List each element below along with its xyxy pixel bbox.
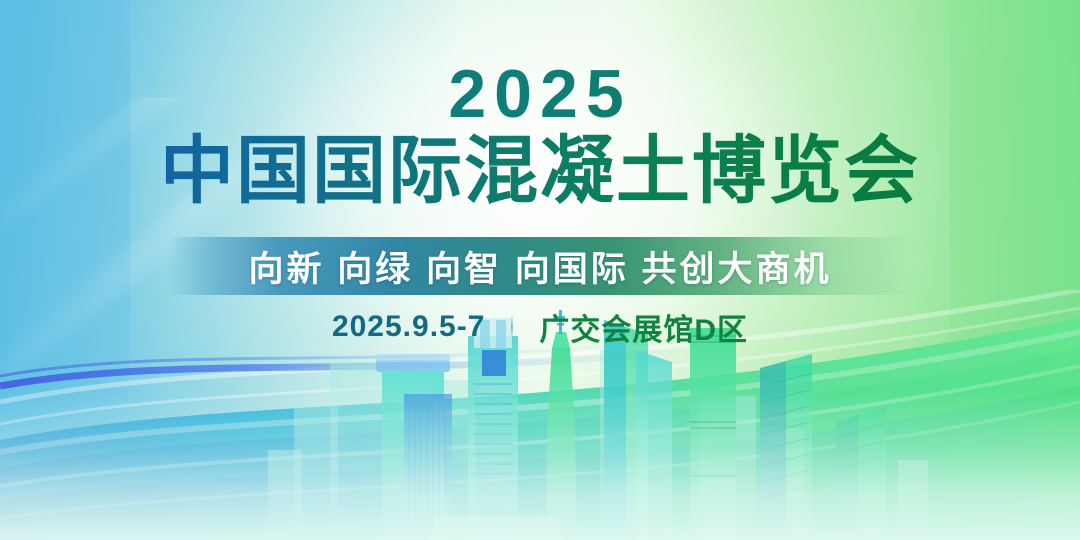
event-meta: 2025.9.5-7 广交会展馆D区 <box>0 305 1080 349</box>
event-year: 2025 <box>0 60 1080 128</box>
event-date: 2025.9.5-7 <box>332 310 485 344</box>
event-venue: 广交会展馆D区 <box>539 305 748 349</box>
event-title: 中国国际混凝土博览会 <box>0 132 1080 210</box>
banner-content: 2025 中国国际混凝土博览会 向新 向绿 向智 向国际 共创大商机 2025.… <box>0 0 1080 540</box>
slogan-container: 向新 向绿 向智 向国际 共创大商机 <box>168 237 912 295</box>
event-slogan: 向新 向绿 向智 向国际 共创大商机 <box>168 237 912 295</box>
meta-divider <box>511 314 513 340</box>
event-banner: 2025 中国国际混凝土博览会 向新 向绿 向智 向国际 共创大商机 2025.… <box>0 0 1080 540</box>
